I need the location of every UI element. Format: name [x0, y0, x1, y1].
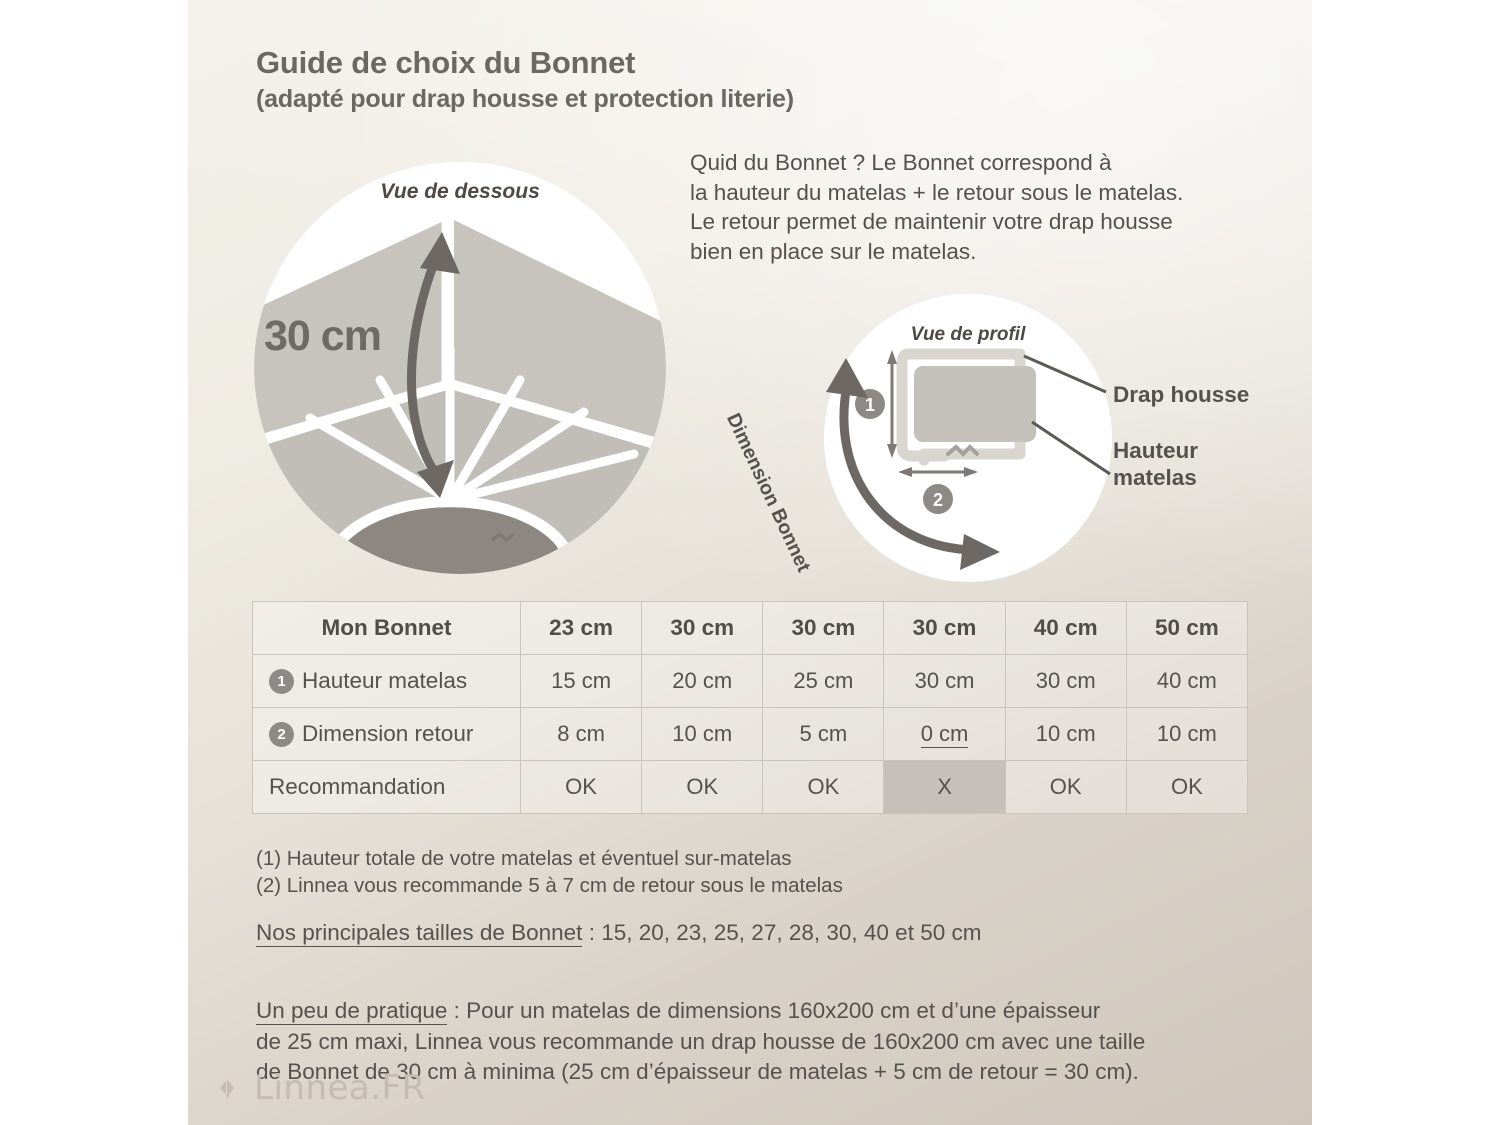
table-header-row-label: Mon Bonnet [253, 602, 521, 655]
page-title: Guide de choix du Bonnet [256, 44, 956, 82]
table-row: RecommandationOKOKOKXOKOK [253, 761, 1248, 814]
sizes-rest: : 15, 20, 23, 25, 27, 28, 30, 40 et 50 c… [582, 920, 981, 945]
table-header-cell-5: 50 cm [1126, 602, 1247, 655]
row-badge-2: 2 [269, 722, 294, 747]
bottom-view-measure-label: 30 cm [264, 312, 381, 361]
table-cell-r2-c2: OK [763, 761, 884, 814]
table-cell-r1-c4: 10 cm [1005, 708, 1126, 761]
dimension-1-arrow [887, 350, 897, 458]
footnotes: (1) Hauteur totale de votre matelas et é… [256, 846, 1206, 899]
table-header-cell-1: 30 cm [642, 602, 763, 655]
brand-logo[interactable]: Linnea.FR [212, 1068, 426, 1108]
table-cell-r2-c1: OK [642, 761, 763, 814]
bonnet-table-wrap: Mon Bonnet23 cm30 cm30 cm30 cm40 cm50 cm… [252, 601, 1248, 814]
table-cell-r2-c0: OK [521, 761, 642, 814]
diagram-bottom-view: Vue de dessous [254, 162, 666, 574]
table-cell-r1-c2: 5 cm [763, 708, 884, 761]
practice-heading: Un peu de pratique [256, 998, 447, 1025]
table-cell-r0-c1: 20 cm [642, 655, 763, 708]
table-row-label: Recommandation [253, 761, 521, 814]
table-header-row: Mon Bonnet23 cm30 cm30 cm30 cm40 cm50 cm [253, 602, 1248, 655]
table-cell-r0-c3: 30 cm [884, 655, 1005, 708]
table-row-label: 1Hauteur matelas [253, 655, 521, 708]
title-block: Guide de choix du Bonnet (adapté pour dr… [256, 44, 956, 115]
underlined-value: 0 cm [921, 721, 969, 748]
table-row: 2Dimension retour8 cm10 cm5 cm0 cm10 cm1… [253, 708, 1248, 761]
diagram-bottom-caption: Vue de dessous [254, 180, 666, 204]
table-cell-r1-c5: 10 cm [1126, 708, 1247, 761]
label-hauteur-matelas: Hauteur matelas [1113, 438, 1198, 491]
dimension-2-arrow [898, 467, 978, 477]
bottom-view-illustration [254, 162, 666, 574]
row-badge-1: 1 [269, 669, 294, 694]
table-cell-r0-c0: 15 cm [521, 655, 642, 708]
table-cell-r0-c4: 30 cm [1005, 655, 1126, 708]
leader-line-mattress [1032, 422, 1110, 474]
brand-logo-text: Linnea.FR [254, 1068, 426, 1108]
table-cell-r0-c5: 40 cm [1126, 655, 1247, 708]
page-subtitle: (adapté pour drap housse et protection l… [256, 84, 956, 115]
table-row: 1Hauteur matelas15 cm20 cm25 cm30 cm30 c… [253, 655, 1248, 708]
table-header-cell-3: 30 cm [884, 602, 1005, 655]
intro-paragraph: Quid du Bonnet ? Le Bonnet correspond à … [690, 148, 1270, 267]
poster-root: Guide de choix du Bonnet (adapté pour dr… [0, 0, 1500, 1125]
table-row-label: 2Dimension retour [253, 708, 521, 761]
table-cell-r1-c1: 10 cm [642, 708, 763, 761]
table-cell-r1-c3: 0 cm [884, 708, 1005, 761]
table-cell-r0-c2: 25 cm [763, 655, 884, 708]
leader-line-sheet [1024, 356, 1106, 392]
sizes-heading: Nos principales tailles de Bonnet [256, 920, 582, 947]
table-cell-r2-c4: OK [1005, 761, 1126, 814]
table-cell-r2-c5: OK [1126, 761, 1247, 814]
table-header-cell-0: 23 cm [521, 602, 642, 655]
sizes-line: Nos principales tailles de Bonnet : 15, … [256, 918, 1256, 947]
profile-badge-2: 2 [933, 490, 943, 510]
bonnet-table: Mon Bonnet23 cm30 cm30 cm30 cm40 cm50 cm… [252, 601, 1248, 814]
diagram-profile-view: Vue de profil 1 [824, 294, 1112, 582]
table-header-cell-4: 40 cm [1005, 602, 1126, 655]
profile-badge-1: 1 [865, 395, 875, 415]
label-drap-housse: Drap housse [1113, 382, 1249, 409]
table-cell-r1-c0: 8 cm [521, 708, 642, 761]
table-cell-r2-c3: X [884, 761, 1005, 814]
diagram-profile-caption: Vue de profil [824, 324, 1112, 346]
diamond-leaf-icon [212, 1073, 242, 1103]
